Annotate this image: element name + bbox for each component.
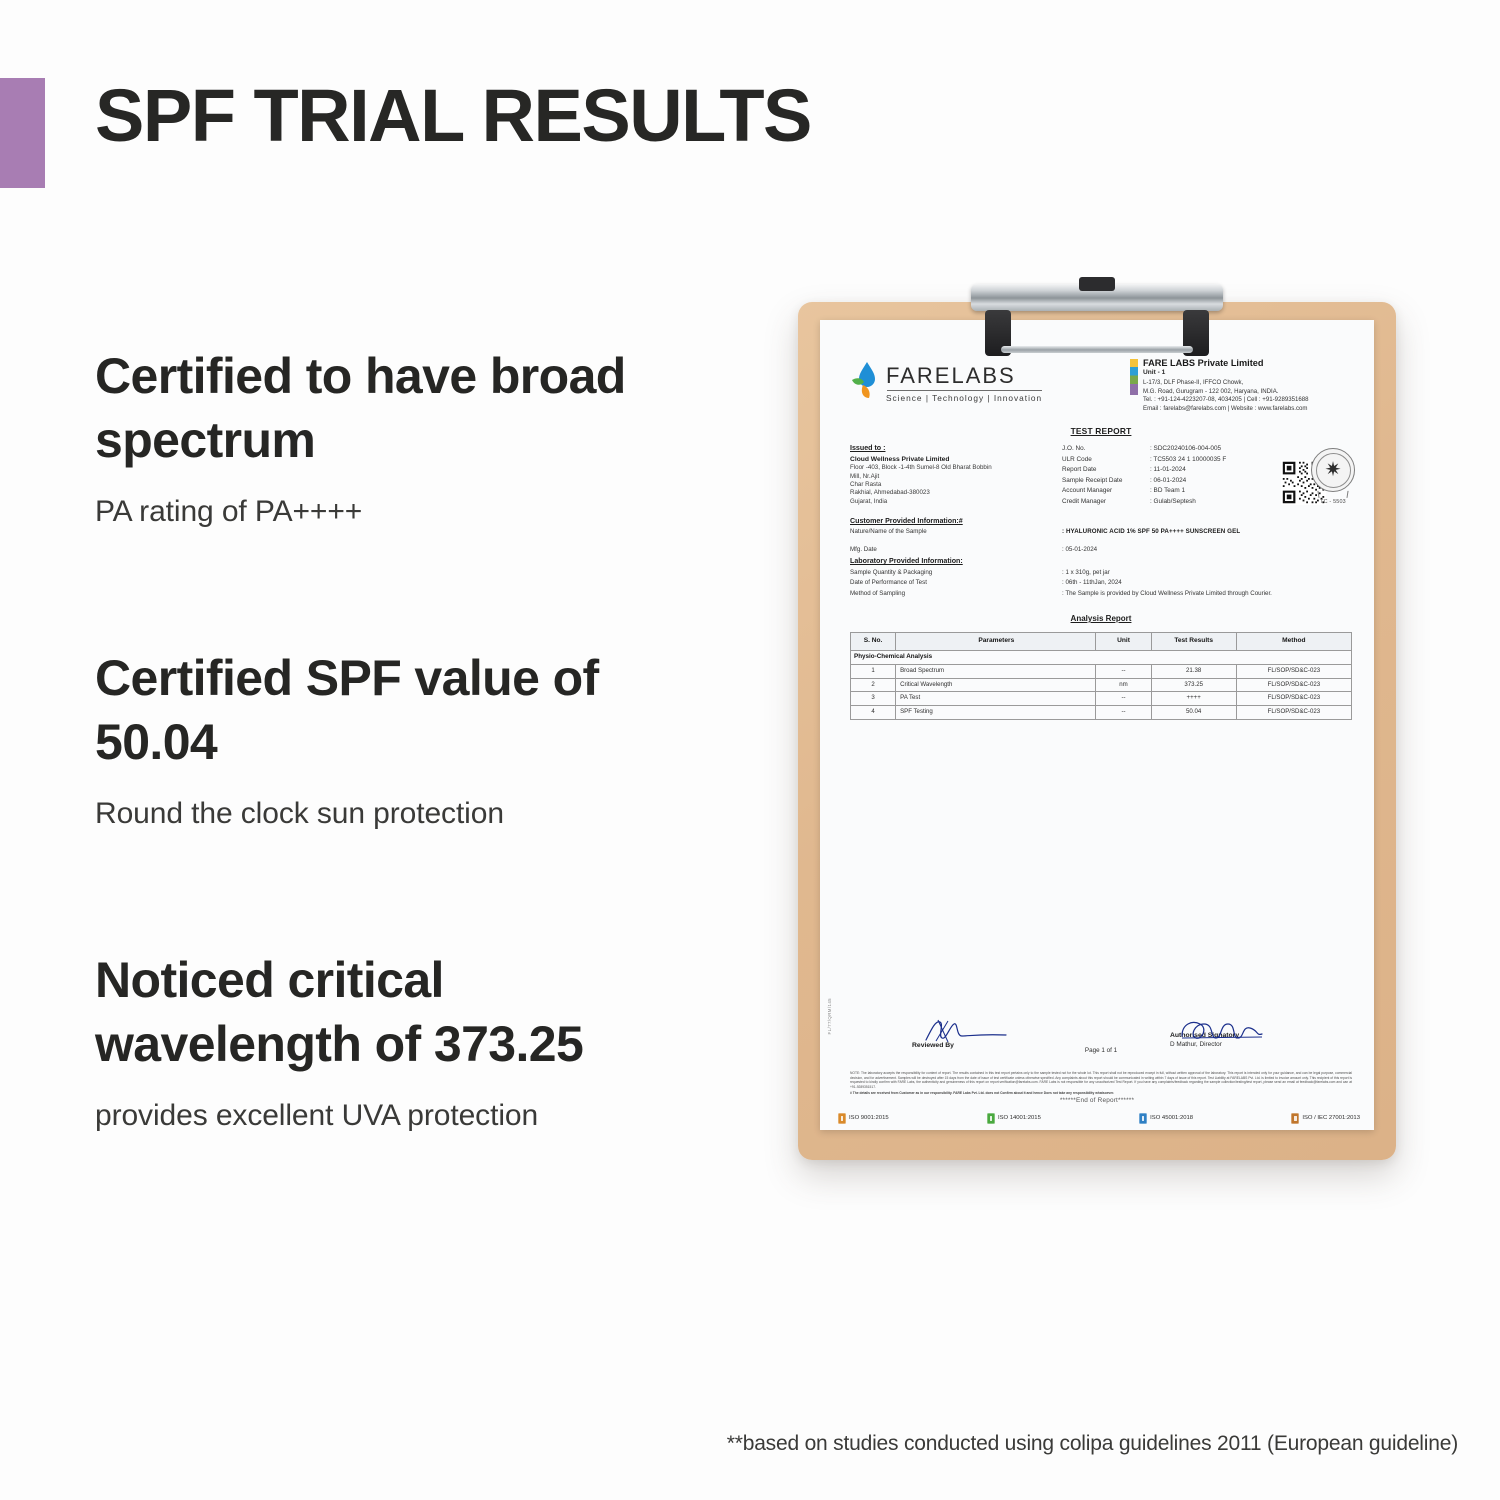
column-header-results: Test Results <box>1151 632 1236 650</box>
analysis-report-heading: Analysis Report <box>850 614 1352 625</box>
iso-certification-item: ISO / IEC 27001:2013 <box>1291 1113 1360 1124</box>
table-row: 1 Broad Spectrum -- 21.38 FL/SOP/SD&C-02… <box>851 664 1352 678</box>
meta-key: ULR Code <box>1062 455 1150 466</box>
cell-method: FL/SOP/SD&C-023 <box>1236 705 1351 719</box>
table-section-label: Physio-Chemical Analysis <box>851 650 1352 664</box>
report-note-footer: # The details are received from Customer… <box>850 1091 1352 1096</box>
iso-certification-row: ISO 9001:2015 ISO 14001:2015 ISO 45001:2… <box>838 1113 1360 1124</box>
feature-title: Noticed critical wavelength of 373.25 <box>95 949 715 1076</box>
feature-list: Certified to have broad spectrum PA rati… <box>95 345 735 1135</box>
page-number: Page 1 of 1 <box>850 1047 1352 1056</box>
cell-result: 373.25 <box>1151 678 1236 692</box>
meta-key: Credit Manager <box>1062 497 1150 508</box>
nabl-accreditation-seal-icon: ✷ TC - 5503 <box>1308 448 1358 506</box>
farelabs-logo: FARELABS Science | Technology | Innovati… <box>850 358 1042 404</box>
cell-unit: -- <box>1096 664 1151 678</box>
feature-block-critical-wavelength: Noticed critical wavelength of 373.25 pr… <box>95 949 735 1135</box>
document-header: FARELABS Science | Technology | Innovati… <box>850 358 1352 414</box>
cell-param: PA Test <box>896 692 1096 706</box>
document-side-code: FL/77/QRM/145 <box>827 998 833 1034</box>
issued-to-company: Cloud Wellness Private Limited <box>850 455 1062 464</box>
info-row-sample-quantity: Sample Quantity & Packaging : 1 x 310g, … <box>850 569 1352 577</box>
seal-code: TC - 5503 <box>1308 499 1358 506</box>
iso-certification-item: ISO 45001:2018 <box>1139 1113 1193 1124</box>
company-unit: Unit - 1 <box>1143 369 1309 378</box>
info-label: Mfg. Date <box>850 546 1062 554</box>
report-note-text: NOTE: The laboratory accepts the respons… <box>850 1071 1352 1090</box>
feature-block-broad-spectrum: Certified to have broad spectrum PA rati… <box>95 345 735 531</box>
customer-provided-information: Customer Provided Information:# Nature/N… <box>850 517 1352 598</box>
cell-result: 21.38 <box>1151 664 1236 678</box>
customer-info-heading: Customer Provided Information:# <box>850 517 1352 527</box>
feature-title: Certified SPF value of 50.04 <box>95 647 715 774</box>
iso-certification-item: ISO 14001:2015 <box>987 1113 1041 1124</box>
authorised-signature-icon <box>1176 1018 1268 1044</box>
cell-sno: 1 <box>851 664 896 678</box>
iso-label: ISO 14001:2015 <box>998 1114 1041 1122</box>
info-value: : 06th - 11thJan, 2024 <box>1062 579 1352 587</box>
iso-badge-icon <box>987 1113 995 1124</box>
reviewer-signature-icon <box>918 1018 1010 1044</box>
column-header-params: Parameters <box>896 632 1096 650</box>
feature-block-spf-value: Certified SPF value of 50.04 Round the c… <box>95 647 735 833</box>
iso-badge-icon <box>1139 1113 1147 1124</box>
info-label: Date of Performance of Test <box>850 579 1062 587</box>
issued-to-line: Floor -403, Block -1-4th Sumel-8 Old Bha… <box>850 464 1062 472</box>
column-header-unit: Unit <box>1096 632 1151 650</box>
feature-subtitle: provides excellent UVA protection <box>95 1096 735 1135</box>
clip-knob <box>1079 277 1115 291</box>
cell-unit: nm <box>1096 678 1151 692</box>
cell-result: 50.04 <box>1151 705 1236 719</box>
clipboard-clip-icon <box>971 284 1223 364</box>
iso-label: ISO 9001:2015 <box>849 1114 889 1122</box>
info-value: : 05-01-2024 <box>1062 546 1352 554</box>
cell-method: FL/SOP/SD&C-023 <box>1236 692 1351 706</box>
feature-subtitle: PA rating of PA++++ <box>95 492 735 531</box>
table-header-row: S. No. Parameters Unit Test Results Meth… <box>851 632 1352 650</box>
company-address-block: FARE LABS Private Limited Unit - 1 L-17/… <box>1130 358 1352 414</box>
iso-badge-icon <box>1291 1113 1299 1124</box>
table-row: 4 SPF Testing -- 50.04 FL/SOP/SD&C-023 <box>851 705 1352 719</box>
table-row: 2 Critical Wavelength nm 373.25 FL/SOP/S… <box>851 678 1352 692</box>
info-value: : The Sample is provided by Cloud Wellne… <box>1062 590 1352 598</box>
column-header-method: Method <box>1236 632 1351 650</box>
cell-method: FL/SOP/SD&C-023 <box>1236 664 1351 678</box>
cell-method: FL/SOP/SD&C-023 <box>1236 678 1351 692</box>
iso-label: ISO 45001:2018 <box>1150 1114 1193 1122</box>
company-address-line: M.G. Road, Gurugram - 122 002, Haryana, … <box>1143 388 1309 397</box>
test-report-heading: TEST REPORT <box>850 426 1352 437</box>
meta-key: J.O. No. <box>1062 444 1150 455</box>
meta-key: Sample Receipt Date <box>1062 476 1150 487</box>
issued-to-line: Rakhial, Ahmedabad-380023 <box>850 489 1062 497</box>
company-phone-line: Tel. : +91-124-4223207-08, 4034205 | Cel… <box>1143 396 1309 405</box>
clip-wire <box>1001 346 1193 353</box>
company-email-line: Email : farelabs@farelabs.com | Website … <box>1143 405 1309 414</box>
page-title: SPF TRIAL RESULTS <box>95 78 811 153</box>
cell-sno: 3 <box>851 692 896 706</box>
cell-param: Broad Spectrum <box>896 664 1096 678</box>
company-address-line: L-17/3, DLF Phase-II, IFFCO Chowk, <box>1143 379 1309 388</box>
clipboard: FARELABS Science | Technology | Innovati… <box>798 302 1396 1160</box>
signature-area: Reviewed By Authorised Signatory D Mathu… <box>850 1004 1352 1050</box>
poster-root: SPF TRIAL RESULTS Certified to have broa… <box>0 0 1500 1500</box>
accent-bar <box>0 78 45 188</box>
iso-certification-item: ISO 9001:2015 <box>838 1113 889 1124</box>
logo-wordmark: FARELABS <box>886 365 1042 387</box>
info-label: Nature/Name of the Sample <box>850 528 1062 536</box>
info-row-sample-name: Nature/Name of the Sample : HYALURONIC A… <box>850 528 1352 536</box>
iso-label: ISO / IEC 27001:2013 <box>1302 1114 1360 1122</box>
meta-key: Account Manager <box>1062 486 1150 497</box>
cell-param: SPF Testing <box>896 705 1096 719</box>
info-row-sampling-method: Method of Sampling : The Sample is provi… <box>850 590 1352 598</box>
meta-key: Report Date <box>1062 465 1150 476</box>
cell-param: Critical Wavelength <box>896 678 1096 692</box>
test-report-document: FARELABS Science | Technology | Innovati… <box>820 320 1374 1130</box>
end-of-report-marker: ******End of Report****** <box>820 1097 1374 1106</box>
info-value: : 1 x 310g, pet jar <box>1062 569 1352 577</box>
issued-to-heading: Issued to : <box>850 444 1062 454</box>
issued-to-line: Gujarat, India <box>850 498 1062 506</box>
table-row: 3 PA Test -- ++++ FL/SOP/SD&C-023 <box>851 692 1352 706</box>
table-section-row: Physio-Chemical Analysis <box>851 650 1352 664</box>
logo-tagline: Science | Technology | Innovation <box>886 393 1042 404</box>
brand-stripe <box>1130 359 1138 395</box>
info-label: Method of Sampling <box>850 590 1062 598</box>
poster-header: SPF TRIAL RESULTS <box>0 78 811 188</box>
feature-title: Certified to have broad spectrum <box>95 345 715 472</box>
issued-to-block: Issued to : Cloud Wellness Private Limit… <box>850 444 1062 508</box>
cell-sno: 2 <box>851 678 896 692</box>
report-note-block: NOTE: The laboratory accepts the respons… <box>850 1071 1352 1096</box>
info-label: Sample Quantity & Packaging <box>850 569 1062 577</box>
info-row-mfg-date: Mfg. Date : 05-01-2024 <box>850 546 1352 554</box>
analysis-results-table: S. No. Parameters Unit Test Results Meth… <box>850 632 1352 720</box>
iso-badge-icon <box>838 1113 846 1124</box>
info-row-test-date: Date of Performance of Test : 06th - 11t… <box>850 579 1352 587</box>
report-info-grid: Issued to : Cloud Wellness Private Limit… <box>850 444 1352 508</box>
cell-sno: 4 <box>851 705 896 719</box>
logo-divider <box>887 390 1042 391</box>
cell-unit: -- <box>1096 705 1151 719</box>
farelabs-droplet-icon <box>850 361 884 401</box>
cell-unit: -- <box>1096 692 1151 706</box>
feature-subtitle: Round the clock sun protection <box>95 794 735 833</box>
footnote-disclaimer: **based on studies conducted using colip… <box>727 1432 1458 1456</box>
column-header-sno: S. No. <box>851 632 896 650</box>
info-value: : HYALURONIC ACID 1% SPF 50 PA++++ SUNSC… <box>1062 528 1352 536</box>
issued-to-line: Mill, Nr.Ajit <box>850 473 1062 481</box>
issued-to-line: Char Rasta <box>850 481 1062 489</box>
cell-result: ++++ <box>1151 692 1236 706</box>
lab-info-heading: Laboratory Provided Information: <box>850 557 1352 567</box>
